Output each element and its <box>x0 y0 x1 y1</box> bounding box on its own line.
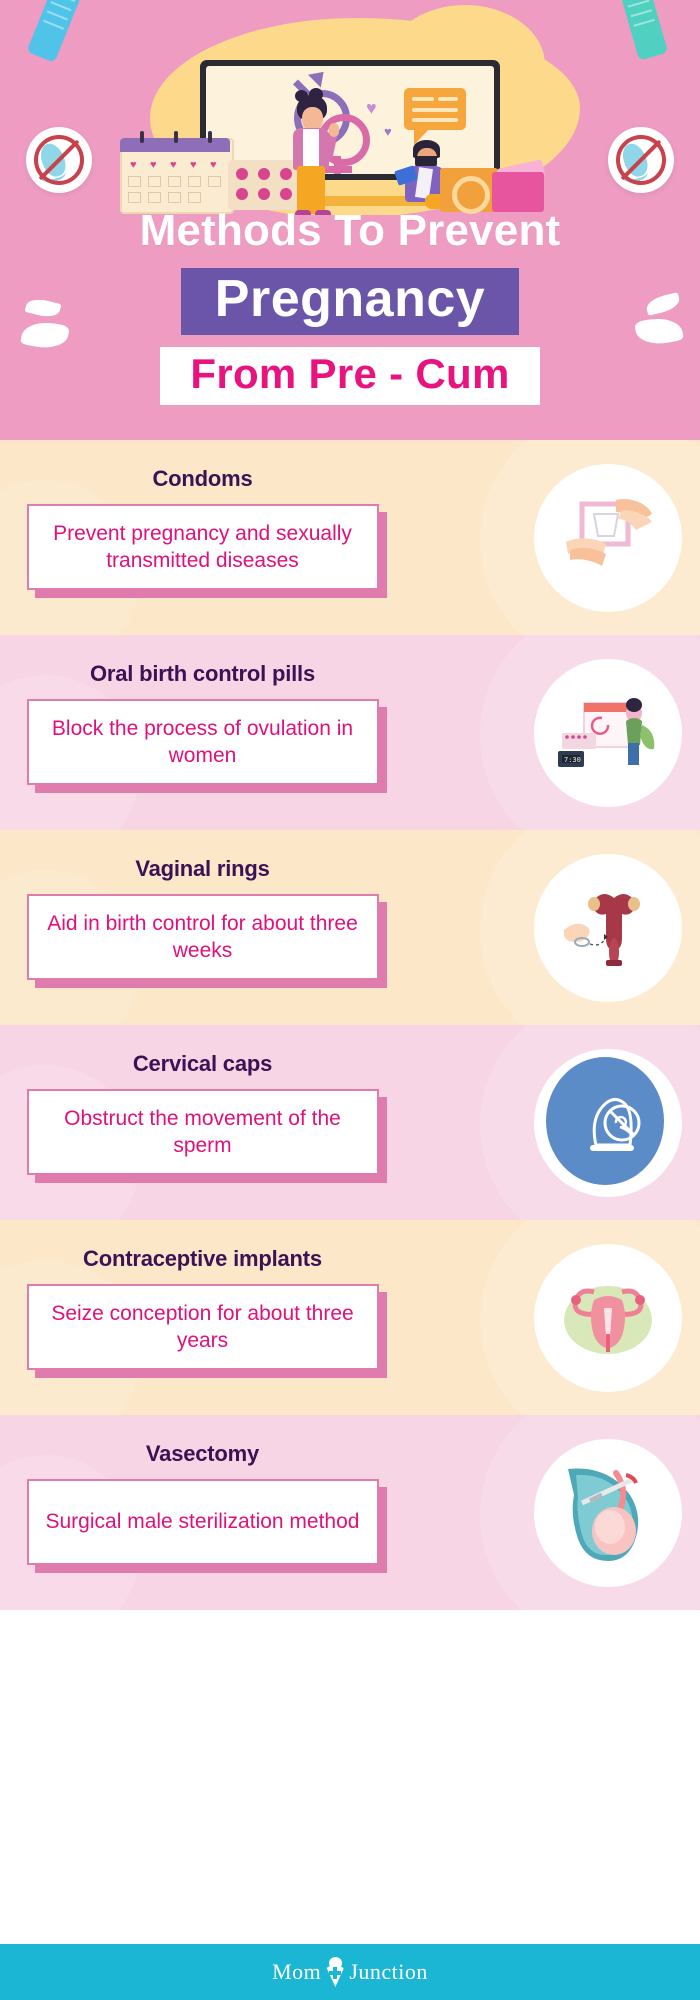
method-title: Condoms <box>0 440 405 492</box>
heart-icon: ♥ <box>366 98 377 119</box>
hero-section: ♥ ♥ ♥ <box>0 0 700 440</box>
method-description: Block the process of ovulation in women <box>39 715 367 770</box>
method-card-text: Vaginal rings Aid in birth control for a… <box>0 830 405 1025</box>
infographic-page: ♥ ♥ ♥ <box>0 0 700 2000</box>
heart-icon: ♥ <box>384 124 392 139</box>
no-sperm-badge-left <box>26 127 92 193</box>
method-section-oral-pills: Oral birth control pills Block the proce… <box>0 635 700 830</box>
uterus-ring-glyph <box>556 876 660 980</box>
method-title: Oral birth control pills <box>0 635 405 687</box>
method-icon-wrap <box>534 464 682 612</box>
momjunction-pin-icon <box>322 1957 348 1987</box>
method-card-text: Contraceptive implants Seize conception … <box>0 1220 405 1415</box>
method-description-box: Obstruct the movement of the sperm <box>27 1089 379 1175</box>
male-symbol-arrowhead <box>308 66 330 87</box>
calendar-icon: ♥ ♥ ♥ ♥ ♥ <box>120 138 234 214</box>
condom-decor-left-icon <box>26 0 83 63</box>
vaginal-ring-uterus-icon <box>534 854 682 1002</box>
method-card-text: Cervical caps Obstruct the movement of t… <box>0 1025 405 1220</box>
method-section-contraceptive-implants: Contraceptive implants Seize conception … <box>0 1220 700 1415</box>
condom-handoff-glyph <box>556 486 660 590</box>
method-description-box: Block the process of ovulation in women <box>27 699 379 785</box>
logo-text-mom: Mom <box>272 1959 321 1985</box>
uterus-implant-glyph <box>556 1266 660 1370</box>
title-line-3: From Pre - Cum <box>190 352 509 396</box>
method-description-box: Prevent pregnancy and sexually transmitt… <box>27 504 379 590</box>
no-sperm-badge-right <box>608 127 674 193</box>
method-description: Surgical male sterilization method <box>46 1508 360 1535</box>
method-section-vaginal-rings: Vaginal rings Aid in birth control for a… <box>0 830 700 1025</box>
method-description: Obstruct the movement of the sperm <box>39 1105 367 1160</box>
pill-calendar-glyph: 7:30 <box>556 681 660 785</box>
logo-text-junction: Junction <box>349 1959 428 1985</box>
cervical-cap-glyph <box>556 1071 660 1175</box>
woman-presenter-figure <box>285 95 345 215</box>
header-illustration: ♥ ♥ ♥ <box>0 0 700 215</box>
title-line-2: Pregnancy <box>215 272 485 327</box>
title-band-white: From Pre - Cum <box>160 347 539 405</box>
condom-decor-right-icon <box>618 0 668 61</box>
page-title: Methods To Prevent Pregnancy From Pre - … <box>0 208 700 405</box>
method-title: Vasectomy <box>0 1415 405 1467</box>
cervical-cap-no-sperm-icon <box>534 1049 682 1197</box>
vasectomy-glyph <box>556 1461 660 1565</box>
condom-handoff-icon <box>534 464 682 612</box>
method-icon-wrap <box>534 1439 682 1587</box>
method-description: Prevent pregnancy and sexually transmitt… <box>39 520 367 575</box>
method-icon-wrap <box>534 854 682 1002</box>
method-section-vasectomy: Vasectomy Surgical male sterilization me… <box>0 1415 700 1610</box>
pill-calendar-woman-icon: 7:30 <box>534 659 682 807</box>
method-icon-wrap <box>534 1244 682 1392</box>
method-title: Contraceptive implants <box>0 1220 405 1272</box>
svg-text:7:30: 7:30 <box>564 756 581 764</box>
chat-bubble-icon <box>404 88 466 130</box>
method-description-box: Surgical male sterilization method <box>27 1479 379 1565</box>
title-band-purple: Pregnancy <box>181 268 519 335</box>
method-description-box: Seize conception for about three years <box>27 1284 379 1370</box>
method-card-text: Condoms Prevent pregnancy and sexually t… <box>0 440 405 635</box>
method-icon-wrap <box>534 1049 682 1197</box>
method-section-condoms: Condoms Prevent pregnancy and sexually t… <box>0 440 700 635</box>
footer-bar: Mom Junction <box>0 1944 700 2000</box>
title-line-1: Methods To Prevent <box>0 208 700 254</box>
method-description-box: Aid in birth control for about three wee… <box>27 894 379 980</box>
method-card-text: Oral birth control pills Block the proce… <box>0 635 405 830</box>
method-description: Aid in birth control for about three wee… <box>39 910 367 965</box>
method-description: Seize conception for about three years <box>39 1300 367 1355</box>
method-icon-wrap: 7:30 <box>534 659 682 807</box>
uterus-implant-icon <box>534 1244 682 1392</box>
method-title: Vaginal rings <box>0 830 405 882</box>
method-section-cervical-caps: Cervical caps Obstruct the movement of t… <box>0 1025 700 1220</box>
method-card-text: Vasectomy Surgical male sterilization me… <box>0 1415 405 1610</box>
method-title: Cervical caps <box>0 1025 405 1077</box>
momjunction-logo[interactable]: Mom Junction <box>272 1957 428 1987</box>
vasectomy-anatomy-icon <box>534 1439 682 1587</box>
